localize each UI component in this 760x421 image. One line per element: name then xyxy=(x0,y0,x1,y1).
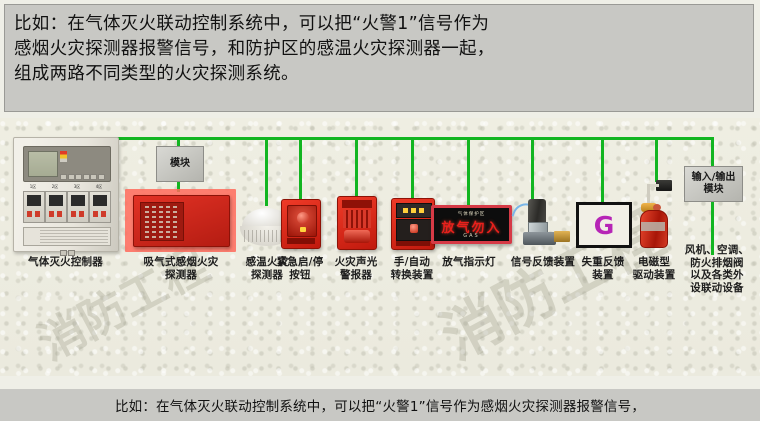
input-output-module-box[interactable]: 输入/输出 模块 xyxy=(684,166,743,202)
signal-feedback-device[interactable] xyxy=(514,199,576,247)
gas-discharge-indicator-sign[interactable]: 气体保护区 放气勿入 GAS xyxy=(431,205,512,244)
bottom-caption-bar: 比如：在气体灭火联动控制系统中，可以把“火警1”信号作为感烟火灾探测器报警信号， xyxy=(0,389,760,421)
label-controller: 气体灭火控制器 xyxy=(8,256,123,269)
zone-tag-4: 4区 xyxy=(89,184,109,190)
zone-module-3[interactable] xyxy=(67,191,89,223)
top-note-line-3: 组成两路不同类型的火灾探测系统。 xyxy=(14,62,745,87)
weight-loss-feedback-device[interactable]: G xyxy=(576,202,632,248)
label-aspirating-detector: 吸气式感烟火灾探测器 xyxy=(126,256,236,281)
bus-drop-manual-auto xyxy=(411,139,414,199)
bus-drop-gas-sign xyxy=(467,139,470,206)
label-gas-indicator-light: 放气指示灯 xyxy=(430,256,508,269)
top-note-line-2: 感烟火灾探测器报警信号，和防护区的感温火灾探测器一起， xyxy=(14,37,745,62)
bus-drop-emergency-button xyxy=(299,139,302,200)
top-note-line-1: 比如：在气体灭火联动控制系统中，可以把“火警1”信号作为 xyxy=(14,12,745,37)
solenoid-driver-cylinder[interactable] xyxy=(634,180,676,248)
label-signal-feedback: 信号反馈装置 xyxy=(501,256,585,269)
zone-module-1[interactable] xyxy=(23,191,45,223)
label-solenoid-driver: 电磁型驱动装置 xyxy=(626,256,682,281)
bus-drop-weight-feedback xyxy=(601,139,604,203)
label-weight-feedback: 失重反馈装置 xyxy=(575,256,631,281)
emergency-start-stop-button[interactable] xyxy=(281,199,321,249)
zone-module-2[interactable] xyxy=(45,191,67,223)
fire-sounder-strobe[interactable] xyxy=(337,196,377,250)
controller-status-lamps xyxy=(60,151,67,162)
gas-extinguishing-controller[interactable]: 1区 2区 3区 4区 xyxy=(13,137,119,252)
bus-drop-signal-feedback xyxy=(531,139,534,201)
label-external-equipment: 风机、空调、 防火排烟阀 以及各类外 设联动设备 xyxy=(676,244,758,294)
zone-tag-1: 1区 xyxy=(23,184,43,190)
bottom-caption-text: 比如：在气体灭火联动控制系统中，可以把“火警1”信号作为感烟火灾探测器报警信号， xyxy=(115,395,645,415)
gas-sign-sub-text: GAS xyxy=(434,233,509,239)
controller-display-bezel xyxy=(23,146,111,182)
io-module-label-line2: 模块 xyxy=(692,184,736,196)
top-explanation-box: 比如：在气体灭火联动控制系统中，可以把“火警1”信号作为 感烟火灾探测器报警信号… xyxy=(4,4,754,112)
bus-line-horizontal xyxy=(100,137,714,140)
aspirating-smoke-detector[interactable] xyxy=(133,195,230,247)
controller-lcd-screen xyxy=(28,151,58,177)
manual-auto-switch-device[interactable] xyxy=(391,198,435,250)
g-letter: G xyxy=(594,213,615,238)
zone-tag-2: 2区 xyxy=(45,184,65,190)
relay-module-box[interactable]: 模块 xyxy=(156,146,204,182)
system-diagram: 消防工程 消防工程 1区 2区 3区 4区 xyxy=(0,118,760,376)
zone-tag-3: 3区 xyxy=(67,184,87,190)
bus-drop-solenoid xyxy=(655,139,658,182)
aspirating-detector-panel xyxy=(140,202,184,241)
bus-drop-sounder xyxy=(355,139,358,197)
io-module-label-line1: 输入/输出 xyxy=(692,172,736,184)
bus-drop-heat-detector xyxy=(265,139,268,206)
controller-warning-plate xyxy=(23,227,111,246)
zone-module-4[interactable] xyxy=(89,191,111,223)
controller-keypad[interactable] xyxy=(60,165,106,177)
